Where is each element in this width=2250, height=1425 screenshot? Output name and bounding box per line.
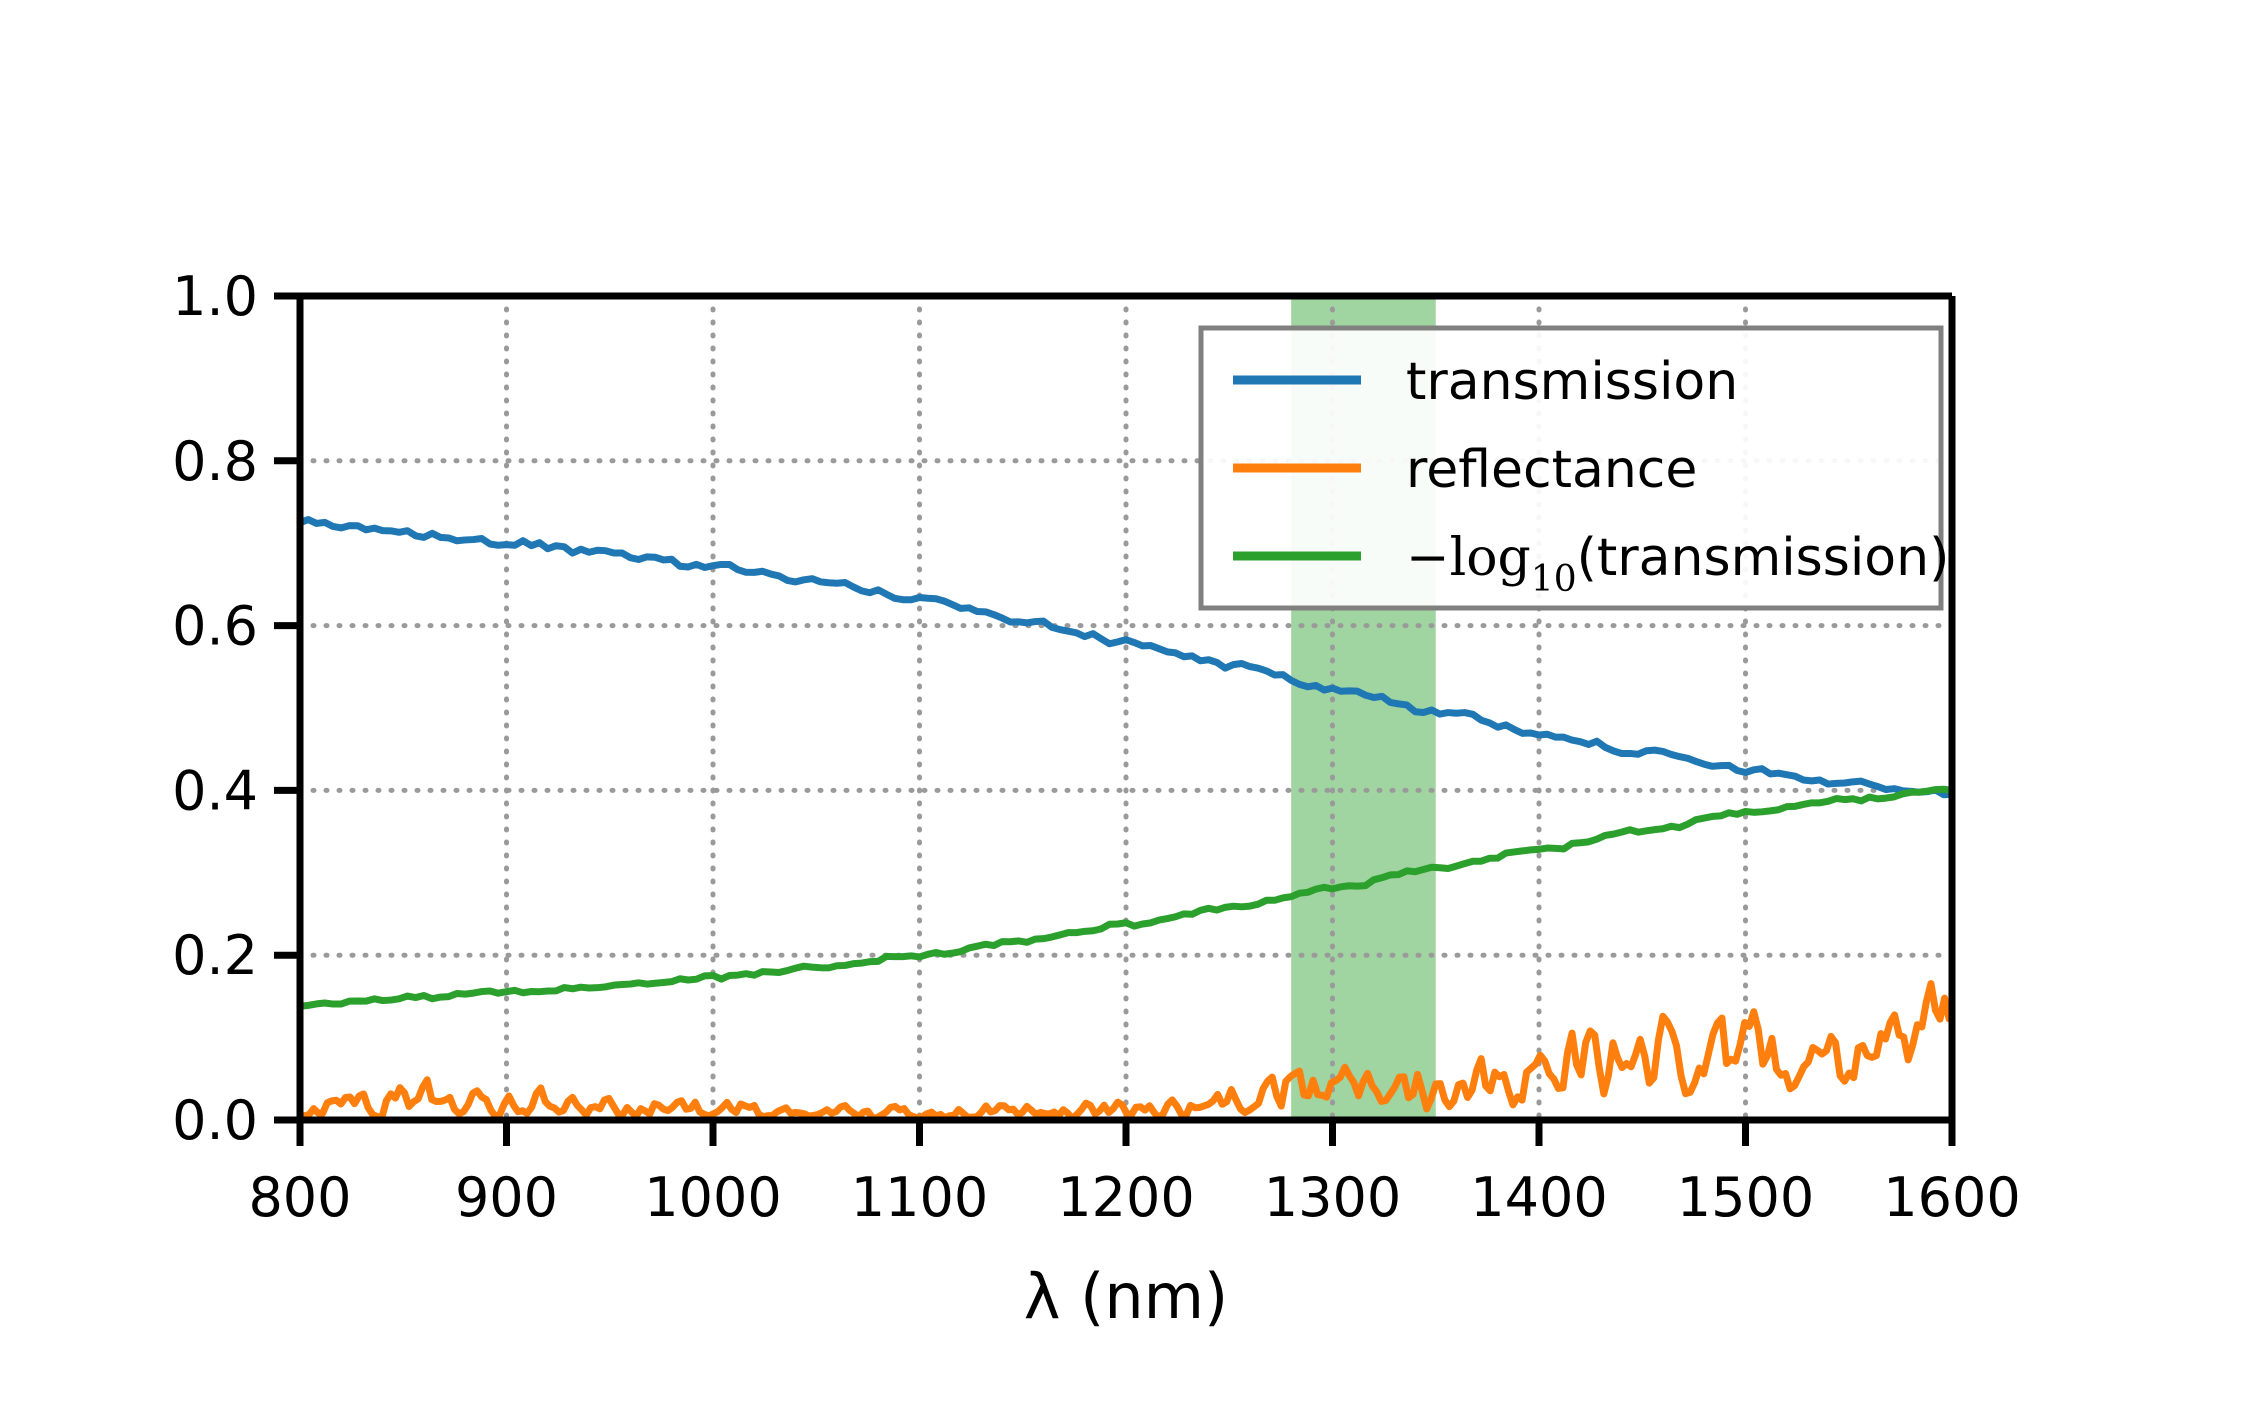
y-tick-label: 0.0 bbox=[172, 1089, 258, 1152]
legend: transmissionreflectance−log10(transmissi… bbox=[1201, 328, 1949, 608]
legend-math-head: −log bbox=[1406, 528, 1531, 588]
y-tick-label: 0.8 bbox=[172, 430, 258, 493]
x-axis-label: λ (nm) bbox=[1024, 1260, 1228, 1333]
y-tick-label: 0.2 bbox=[172, 924, 258, 987]
legend-label-1: transmission bbox=[1406, 352, 1738, 412]
x-tick-label: 1300 bbox=[1264, 1166, 1401, 1229]
y-tick-label: 1.0 bbox=[172, 265, 258, 328]
spectrum-plot: 80090010001100120013001400150016000.00.2… bbox=[0, 0, 2250, 1425]
x-tick-label: 1600 bbox=[1883, 1166, 2020, 1229]
x-tick-label: 1100 bbox=[851, 1166, 988, 1229]
x-tick-label: 1200 bbox=[1057, 1166, 1194, 1229]
figure-canvas: 80090010001100120013001400150016000.00.2… bbox=[0, 0, 2250, 1425]
legend-math-subscript: 10 bbox=[1531, 559, 1577, 600]
y-tick-label: 0.4 bbox=[172, 759, 258, 822]
y-tick-label: 0.6 bbox=[172, 595, 258, 658]
legend-math-tail: (transmission) bbox=[1577, 528, 1950, 588]
x-tick-label: 900 bbox=[455, 1166, 558, 1229]
x-tick-label: 1000 bbox=[644, 1166, 781, 1229]
x-tick-label: 1400 bbox=[1470, 1166, 1607, 1229]
legend-label-2: reflectance bbox=[1406, 440, 1697, 500]
x-tick-label: 800 bbox=[248, 1166, 351, 1229]
x-tick-label: 1500 bbox=[1677, 1166, 1814, 1229]
